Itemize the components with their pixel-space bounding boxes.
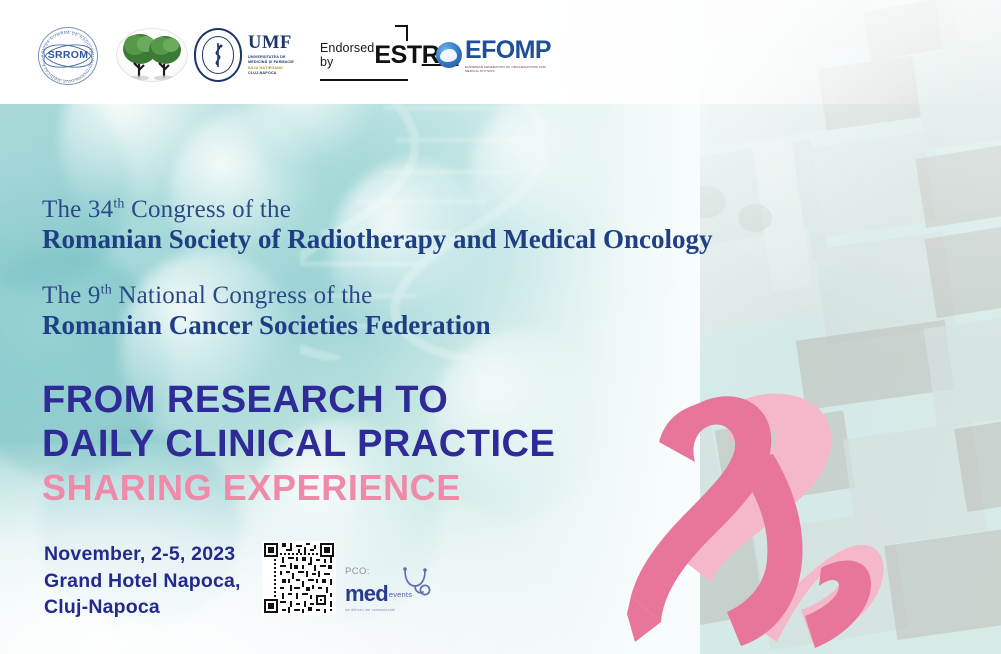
event-city: Cluj-Napoca [44, 594, 241, 621]
congress-primary-name: Romanian Society of Radiotherapy and Med… [42, 224, 713, 256]
med-word: med [345, 584, 388, 605]
slogan-line-1: FROM RESEARCH TO [42, 378, 555, 422]
congress-secondary-prefix: The 9th National Congress of the [42, 282, 491, 310]
event-date: November, 2-5, 2023 [44, 541, 241, 568]
med-tagline: we deliver, we communicate [345, 608, 417, 612]
congress-banner: SOCIETATEA ROMÂNĂ DE RADIOTERAPIE ȘI ONC… [0, 0, 1001, 654]
pco-block: PCO: medevents we deliver, we communicat… [345, 566, 417, 612]
congress-slogan: FROM RESEARCH TO DAILY CLINICAL PRACTICE… [42, 378, 555, 509]
event-details: November, 2-5, 2023 Grand Hotel Napoca, … [44, 541, 241, 621]
congress-primary-prefix: The 34th Congress of the [42, 196, 713, 224]
congress-secondary-name: Romanian Cancer Societies Federation [42, 310, 491, 342]
banner-content: The 34th Congress of the Romanian Societ… [0, 0, 1001, 654]
qr-code[interactable] [262, 541, 336, 615]
congress-title-secondary: The 9th National Congress of the Romania… [42, 282, 491, 342]
congress-title-primary: The 34th Congress of the Romanian Societ… [42, 196, 713, 256]
med-events-logo[interactable]: medevents we deliver, we communicate [345, 584, 417, 612]
slogan-line-2: DAILY CLINICAL PRACTICE [42, 422, 555, 466]
event-venue: Grand Hotel Napoca, [44, 568, 241, 595]
qr-code-image [262, 541, 336, 615]
slogan-line-3: SHARING EXPERIENCE [42, 467, 555, 509]
stethoscope-icon [399, 566, 433, 600]
